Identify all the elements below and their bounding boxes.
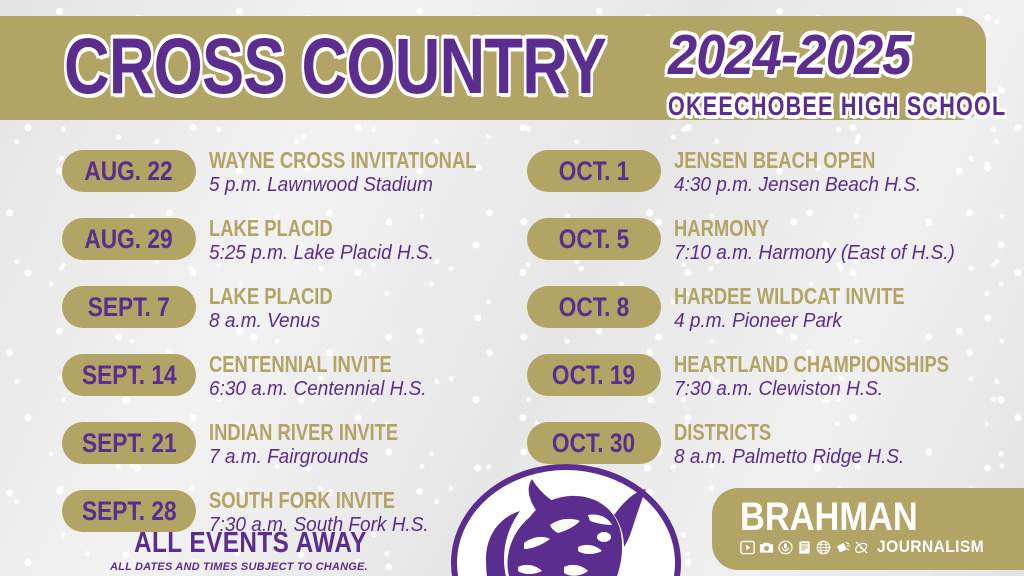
event-info: WAYNE CROSS INVITATIONAL 5 p.m. Lawnwood… — [209, 148, 509, 197]
date-label: SEPT. 14 — [82, 362, 177, 389]
camera-icon — [759, 540, 774, 555]
schedule-row: OCT. 8 HARDEE WILDCAT INVITE 4 p.m. Pion… — [527, 286, 997, 354]
date-badge: OCT. 1 — [527, 150, 661, 192]
event-name: LAKE PLACID — [209, 216, 449, 240]
event-detail: 7:10 a.m. Harmony (East of H.S.) — [674, 241, 988, 265]
event-detail: 5 p.m. Lawnwood Stadium — [209, 173, 494, 197]
event-info: HEARTLAND CHAMPIONSHIPS 7:30 a.m. Clewis… — [674, 352, 1004, 401]
event-name: INDIAN RIVER INVITE — [209, 420, 449, 444]
event-detail: 8 a.m. Palmetto Ridge H.S. — [674, 445, 988, 469]
event-detail: 7:30 a.m. Clewiston H.S. — [674, 377, 988, 401]
event-info: DISTRICTS 8 a.m. Palmetto Ridge H.S. — [674, 420, 1004, 469]
all-events-away-note: ALL EVENTS AWAY — [134, 528, 367, 558]
event-info: HARDEE WILDCAT INVITE 4 p.m. Pioneer Par… — [674, 284, 1004, 333]
schedule-row: OCT. 19 HEARTLAND CHAMPIONSHIPS 7:30 a.m… — [527, 354, 997, 422]
event-info: CENTENNIAL INVITE 6:30 a.m. Centennial H… — [209, 352, 509, 401]
date-label: OCT. 30 — [552, 430, 635, 457]
schedule-row: OCT. 5 HARMONY 7:10 a.m. Harmony (East o… — [527, 218, 997, 286]
logo-subword: JOURNALISM — [877, 538, 984, 556]
event-name: CENTENNIAL INVITE — [209, 352, 449, 376]
date-badge: SEPT. 7 — [62, 286, 196, 328]
event-info: LAKE PLACID 5:25 p.m. Lake Placid H.S. — [209, 216, 509, 265]
satellite-dish-icon — [854, 540, 869, 555]
event-detail: 5:25 p.m. Lake Placid H.S. — [209, 241, 494, 265]
event-detail: 8 a.m. Venus — [209, 309, 494, 333]
event-info: LAKE PLACID 8 a.m. Venus — [209, 284, 509, 333]
event-detail: 6:30 a.m. Centennial H.S. — [209, 377, 494, 401]
date-badge: OCT. 19 — [527, 354, 661, 396]
event-name: DISTRICTS — [674, 420, 938, 444]
date-badge: SEPT. 21 — [62, 422, 196, 464]
event-name: LAKE PLACID — [209, 284, 449, 308]
video-play-icon — [740, 540, 755, 555]
brahman-journalism-logo: BRAHMAN — [712, 488, 1024, 570]
date-badge: SEPT. 28 — [62, 490, 196, 532]
page-title: CROSS COUNTRY — [64, 24, 606, 108]
globe-icon — [816, 540, 831, 555]
event-name: HEARTLAND CHAMPIONSHIPS — [674, 352, 938, 376]
date-badge: SEPT. 14 — [62, 354, 196, 396]
schedule-column-left: AUG. 22 WAYNE CROSS INVITATIONAL 5 p.m. … — [62, 150, 502, 558]
microphone-icon — [778, 540, 793, 555]
schedule-column-right: OCT. 1 JENSEN BEACH OPEN 4:30 p.m. Jense… — [527, 150, 997, 490]
date-label: SEPT. 21 — [82, 430, 177, 457]
date-label: OCT. 8 — [559, 294, 630, 321]
event-name: JENSEN BEACH OPEN — [674, 148, 938, 172]
disclaimer-note: ALL DATES AND TIMES SUBJECT TO CHANGE. — [110, 561, 368, 573]
logo-icon-row: JOURNALISM — [740, 538, 993, 556]
event-detail: 4 p.m. Pioneer Park — [674, 309, 988, 333]
date-badge: OCT. 5 — [527, 218, 661, 260]
date-label: OCT. 1 — [559, 158, 630, 185]
title-block: CROSS COUNTRY 2024-2025 OKEECHOBEE HIGH … — [64, 16, 1004, 120]
cross-country-schedule-poster: CROSS COUNTRY 2024-2025 OKEECHOBEE HIGH … — [0, 0, 1024, 576]
schedule-row: SEPT. 14 CENTENNIAL INVITE 6:30 a.m. Cen… — [62, 354, 502, 422]
date-label: SEPT. 28 — [82, 498, 177, 525]
date-label: SEPT. 7 — [88, 294, 170, 321]
date-badge: AUG. 22 — [62, 150, 196, 192]
date-label: OCT. 5 — [559, 226, 630, 253]
event-name: SOUTH FORK INVITE — [209, 488, 449, 512]
schedule-row: AUG. 22 WAYNE CROSS INVITATIONAL 5 p.m. … — [62, 150, 502, 218]
logo-wordmark: BRAHMAN — [740, 496, 918, 538]
event-name: WAYNE CROSS INVITATIONAL — [209, 148, 449, 172]
event-info: JENSEN BEACH OPEN 4:30 p.m. Jensen Beach… — [674, 148, 1004, 197]
schedule-row: AUG. 29 LAKE PLACID 5:25 p.m. Lake Placi… — [62, 218, 502, 286]
schedule-row: SEPT. 7 LAKE PLACID 8 a.m. Venus — [62, 286, 502, 354]
date-label: OCT. 19 — [552, 362, 635, 389]
event-name: HARDEE WILDCAT INVITE — [674, 284, 938, 308]
event-detail: 4:30 p.m. Jensen Beach H.S. — [674, 173, 988, 197]
schedule-row: OCT. 1 JENSEN BEACH OPEN 4:30 p.m. Jense… — [527, 150, 997, 218]
season-years: 2024-2025 — [668, 25, 911, 85]
date-badge: AUG. 29 — [62, 218, 196, 260]
brahman-bull-mascot-icon — [446, 455, 686, 576]
newspaper-icon — [797, 540, 812, 555]
school-name: OKEECHOBEE HIGH SCHOOL — [668, 92, 1006, 120]
event-name: HARMONY — [674, 216, 938, 240]
schedule-row: SEPT. 21 INDIAN RIVER INVITE 7 a.m. Fair… — [62, 422, 502, 490]
date-label: AUG. 22 — [85, 158, 173, 185]
megaphone-icon — [835, 540, 850, 555]
date-badge: OCT. 8 — [527, 286, 661, 328]
event-info: HARMONY 7:10 a.m. Harmony (East of H.S.) — [674, 216, 1004, 265]
date-label: AUG. 29 — [85, 226, 173, 253]
